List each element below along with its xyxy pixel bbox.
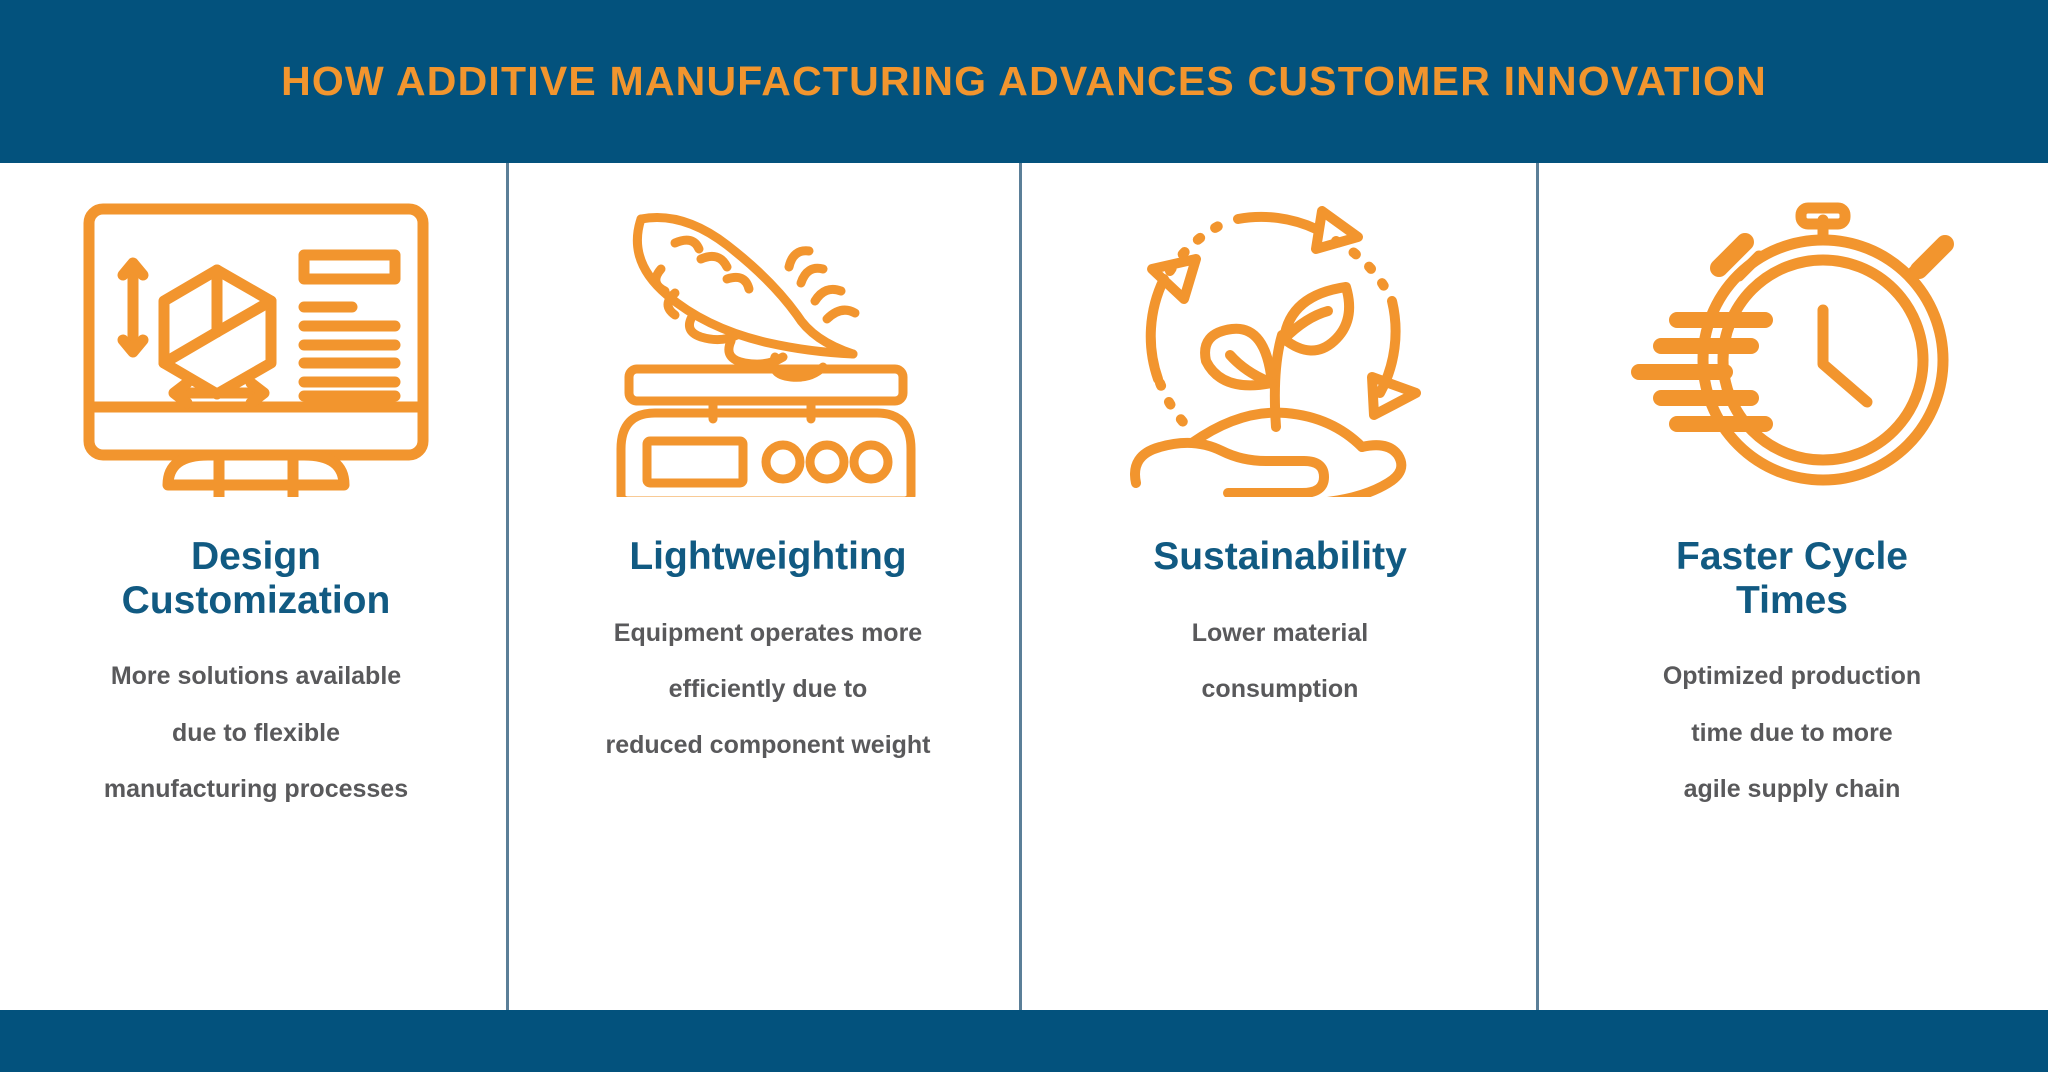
column-body: Lower material consumption bbox=[1192, 605, 1368, 718]
column-title-line: Lightweighting bbox=[629, 535, 906, 578]
column-body-line: Equipment operates more bbox=[605, 605, 930, 661]
columns-container: Design Customization More solutions avai… bbox=[0, 163, 2048, 1010]
column-body-line: reduced component weight bbox=[605, 717, 930, 773]
column-body: Optimized production time due to more ag… bbox=[1663, 648, 1921, 817]
column-title-line: Design bbox=[191, 535, 321, 578]
footer-bar bbox=[0, 1010, 2048, 1072]
column-title-line: Sustainability bbox=[1153, 535, 1407, 578]
column-title-line: Customization bbox=[122, 579, 391, 622]
column-body-line: Optimized production bbox=[1663, 648, 1921, 704]
sprout-in-hand-recycle-icon bbox=[1130, 187, 1430, 507]
column-body-line: due to flexible bbox=[104, 705, 408, 761]
column-body-line: More solutions available bbox=[104, 648, 408, 704]
feather-on-scale-icon bbox=[603, 187, 933, 507]
column-design-customization: Design Customization More solutions avai… bbox=[0, 163, 512, 1010]
column-body-line: efficiently due to bbox=[605, 661, 930, 717]
column-lightweighting: Lightweighting Equipment operates more e… bbox=[512, 163, 1024, 1010]
column-body-line: manufacturing processes bbox=[104, 761, 408, 817]
column-title: Faster Cycle Times bbox=[1627, 535, 1957, 622]
column-sustainability: Sustainability Lower material consumptio… bbox=[1024, 163, 1536, 1010]
column-title: Design Customization bbox=[91, 535, 421, 622]
column-title: Sustainability bbox=[1153, 535, 1407, 579]
column-title-line: Times bbox=[1736, 579, 1848, 622]
column-body-line: agile supply chain bbox=[1663, 761, 1921, 817]
column-body-line: consumption bbox=[1192, 661, 1368, 717]
column-faster-cycle-times: Faster Cycle Times Optimized production … bbox=[1536, 163, 2048, 1010]
column-body-line: Lower material bbox=[1192, 605, 1368, 661]
column-body-line: time due to more bbox=[1663, 705, 1921, 761]
header-bar: HOW ADDITIVE MANUFACTURING ADVANCES CUST… bbox=[0, 0, 2048, 163]
column-body: More solutions available due to flexible… bbox=[104, 648, 408, 817]
column-divider bbox=[1536, 163, 1539, 1010]
infographic-page: HOW ADDITIVE MANUFACTURING ADVANCES CUST… bbox=[0, 0, 2048, 1072]
column-divider bbox=[506, 163, 509, 1010]
column-body: Equipment operates more efficiently due … bbox=[605, 605, 930, 774]
stopwatch-speed-icon bbox=[1627, 187, 1957, 507]
column-divider bbox=[1019, 163, 1022, 1010]
monitor-3d-design-icon bbox=[76, 187, 436, 507]
column-title: Lightweighting bbox=[629, 535, 906, 579]
column-title-line: Faster Cycle bbox=[1676, 535, 1908, 578]
page-title: HOW ADDITIVE MANUFACTURING ADVANCES CUST… bbox=[281, 61, 1767, 102]
